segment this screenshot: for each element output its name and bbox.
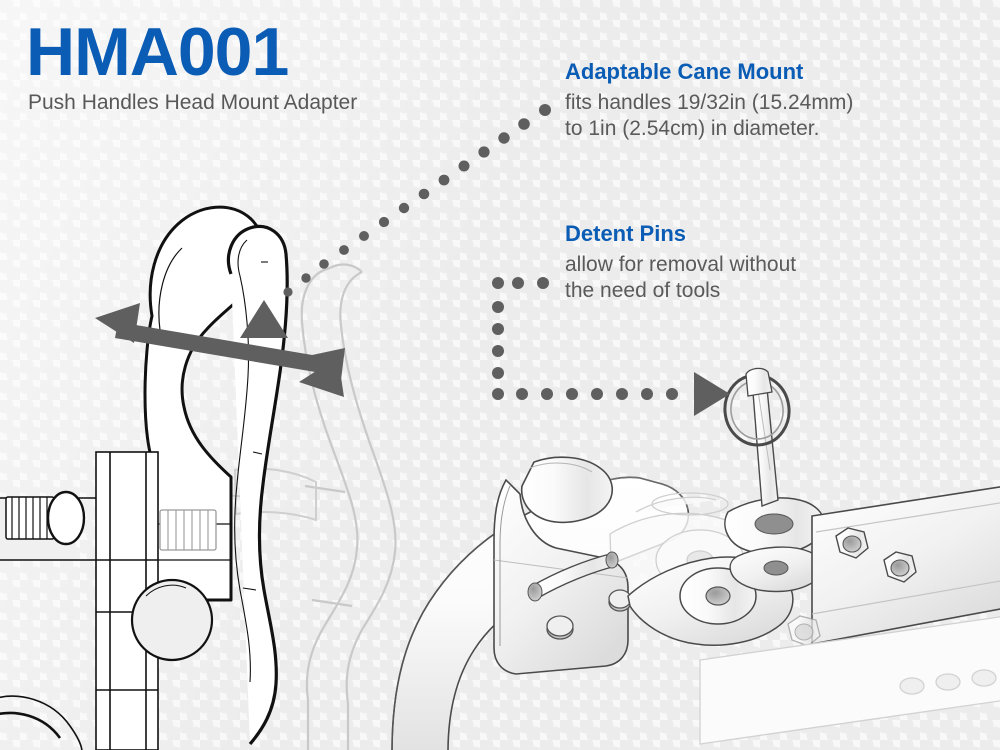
callout-body-detent-pins-line1: allow for removal without bbox=[565, 252, 985, 278]
product-infographic: HMA001 Push Handles Head Mount Adapter A… bbox=[0, 0, 1000, 750]
lower-left-arc-detail bbox=[0, 696, 82, 750]
callout-heading-cane-mount: Adaptable Cane Mount bbox=[565, 60, 985, 84]
tube-clamp-collar bbox=[522, 457, 613, 522]
detent-pin-assembly bbox=[720, 368, 824, 591]
page-title: HMA001 bbox=[26, 18, 357, 86]
callout-adaptable-cane-mount: Adaptable Cane Mount fits handles 19/32i… bbox=[565, 60, 985, 143]
callout-body-detent-pins-line2: the need of tools bbox=[565, 278, 985, 304]
threaded-stud bbox=[6, 492, 84, 544]
ball-joint bbox=[132, 580, 212, 660]
page-subtitle: Push Handles Head Mount Adapter bbox=[28, 92, 357, 113]
secondary-threaded-bolt bbox=[160, 510, 216, 550]
callout-detent-pins: Detent Pins allow for removal without th… bbox=[565, 222, 985, 305]
callout-body-cane-mount-line2: to 1in (2.54cm) in diameter. bbox=[565, 116, 985, 142]
callout-heading-detent-pins: Detent Pins bbox=[565, 222, 985, 246]
callout-body-cane-mount-line1: fits handles 19/32in (15.24mm) bbox=[565, 90, 985, 116]
header-block: HMA001 Push Handles Head Mount Adapter bbox=[26, 18, 357, 113]
